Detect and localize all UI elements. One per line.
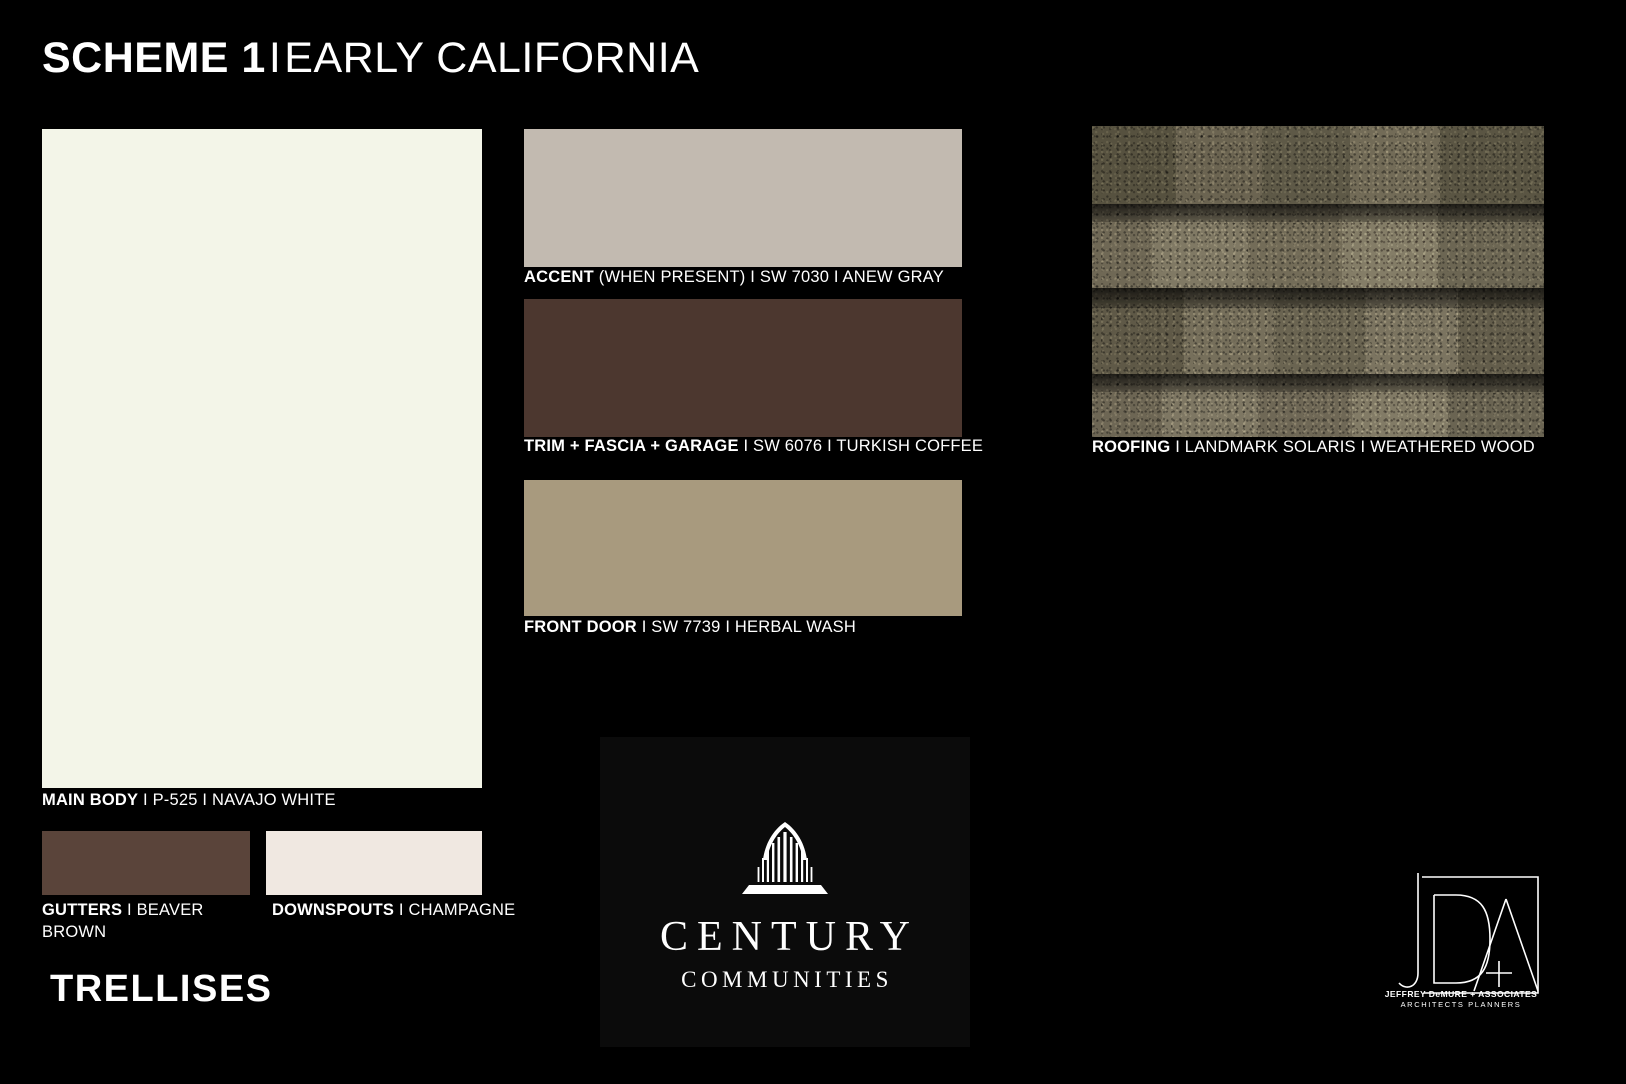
label-downspouts: DOWNSPOUTS I CHAMPAGNE — [272, 900, 515, 922]
label-roofing-details: I LANDMARK SOLARIS I WEATHERED WOOD — [1175, 438, 1535, 456]
jda-monogram-icon — [1378, 855, 1544, 1005]
label-downspouts-name: DOWNSPOUTS — [272, 901, 394, 919]
jda-firm-name: JEFFREY DeMURE + ASSOCIATES — [1378, 989, 1544, 999]
label-trim-fascia-garage: TRIM + FASCIA + GARAGE I SW 6076 I TURKI… — [524, 436, 983, 458]
century-communities-logo: CENTURY COMMUNITIES — [600, 737, 970, 1047]
jda-firm-discipline: ARCHITECTS PLANNERS — [1378, 1000, 1544, 1009]
label-trim-details: I SW 6076 I TURKISH COFFEE — [743, 437, 983, 455]
label-front-door-name: FRONT DOOR — [524, 618, 637, 636]
color-scheme-board: SCHEME 1IEARLY CALIFORNIA MAIN BODY I P-… — [0, 0, 1626, 1084]
label-gutters-name: GUTTERS — [42, 901, 122, 919]
swatch-trim-fascia-garage[interactable] — [524, 299, 962, 437]
label-gutters: GUTTERS I BEAVER BROWN — [42, 900, 242, 944]
century-subtitle: COMMUNITIES — [677, 968, 893, 991]
section-heading-trellises: TRELLISES — [50, 968, 273, 1011]
label-front-door: FRONT DOOR I SW 7739 I HERBAL WASH — [524, 617, 856, 639]
swatch-downspouts[interactable] — [266, 831, 482, 895]
label-main-body-details: I P-525 I NAVAJO WHITE — [143, 791, 336, 809]
title-separator: I — [266, 34, 284, 82]
label-downspouts-details: I CHAMPAGNE — [399, 901, 516, 919]
label-accent-name: ACCENT — [524, 268, 594, 286]
label-accent: ACCENT (WHEN PRESENT) I SW 7030 I ANEW G… — [524, 267, 944, 289]
swatch-roofing-shingle[interactable] — [1092, 126, 1544, 437]
label-accent-details: (WHEN PRESENT) I SW 7030 I ANEW GRAY — [599, 268, 944, 286]
swatch-front-door[interactable] — [524, 480, 962, 616]
label-roofing: ROOFING I LANDMARK SOLARIS I WEATHERED W… — [1092, 437, 1535, 459]
swatch-main-body[interactable] — [42, 129, 482, 788]
scheme-number: SCHEME 1 — [42, 34, 266, 82]
swatch-accent[interactable] — [524, 129, 962, 267]
label-main-body: MAIN BODY I P-525 I NAVAJO WHITE — [42, 790, 336, 812]
scheme-name: EARLY CALIFORNIA — [284, 34, 699, 82]
label-roofing-name: ROOFING — [1092, 438, 1170, 456]
label-trim-name: TRIM + FASCIA + GARAGE — [524, 437, 739, 455]
label-main-body-name: MAIN BODY — [42, 791, 138, 809]
label-front-door-details: I SW 7739 I HERBAL WASH — [642, 618, 856, 636]
page-title: SCHEME 1IEARLY CALIFORNIA — [42, 36, 699, 81]
century-arch-icon — [729, 822, 841, 894]
century-wordmark: CENTURY — [651, 916, 919, 958]
swatch-gutters[interactable] — [42, 831, 250, 895]
